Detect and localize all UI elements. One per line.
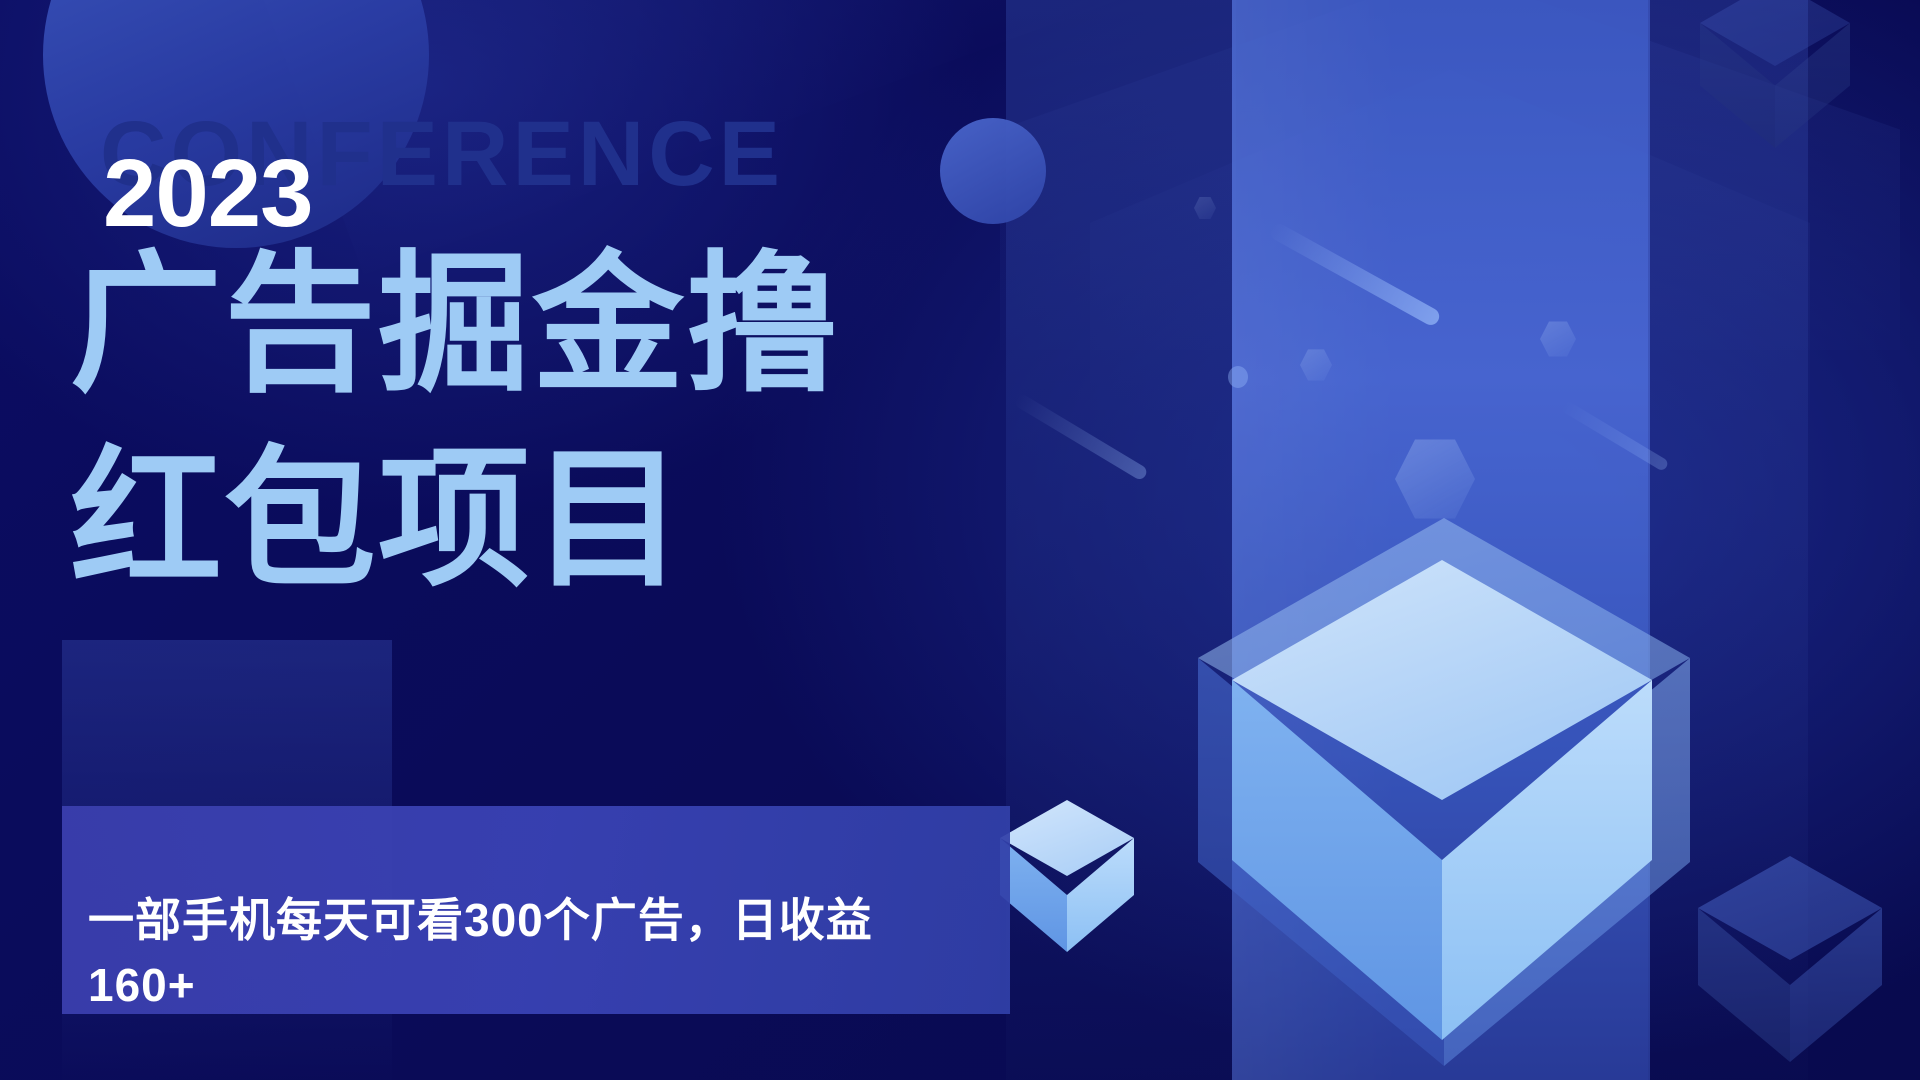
cube-icon-dim [1698, 856, 1882, 1062]
cube-icon-far [1700, 0, 1850, 148]
headline-title: 广告掘金撸 红包项目 [70, 228, 1200, 617]
headline-line-1: 广告掘金撸 [70, 240, 840, 410]
promo-poster: CONFERENCE 2023 广告掘金撸 红包项目 一部手机每天可看300个广… [0, 0, 1920, 1080]
decorative-circle-mid [940, 118, 1046, 224]
cube-icon-small [1000, 800, 1134, 952]
subtitle-text: 一部手机每天可看300个广告，日收益160+ [88, 888, 978, 1019]
cube-icon-main [1232, 560, 1652, 1040]
decorative-dot [1228, 366, 1248, 388]
headline-line-2: 红包项目 [70, 423, 1200, 618]
